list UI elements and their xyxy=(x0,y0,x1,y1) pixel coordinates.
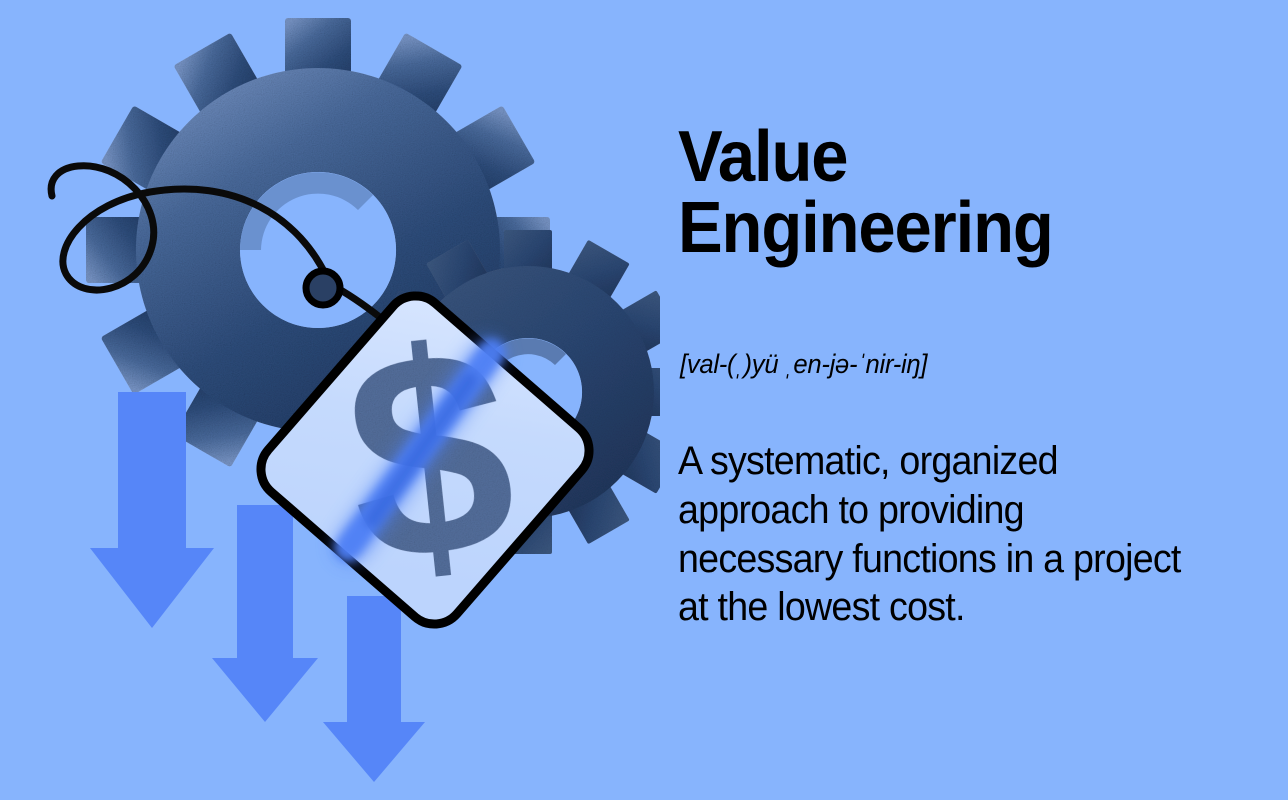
page-title: Value Engineering xyxy=(678,122,1199,263)
text-column: Value Engineering [val-(ˌ)yü ˌen-jə-ˈnir… xyxy=(678,0,1258,800)
tag-grommet xyxy=(306,271,340,305)
definition-card: $ Value Engineering [val-(ˌ)yü ˌen-jə-ˈn… xyxy=(0,0,1288,800)
illustration: $ xyxy=(0,0,660,800)
definition-text: A systematic, organized approach to prov… xyxy=(678,437,1190,632)
pronunciation: [val-(ˌ)yü ˌen-jə-ˈnir-iŋ] xyxy=(680,348,1212,380)
down-arrow-2 xyxy=(212,505,318,722)
down-arrow-3 xyxy=(323,596,425,782)
